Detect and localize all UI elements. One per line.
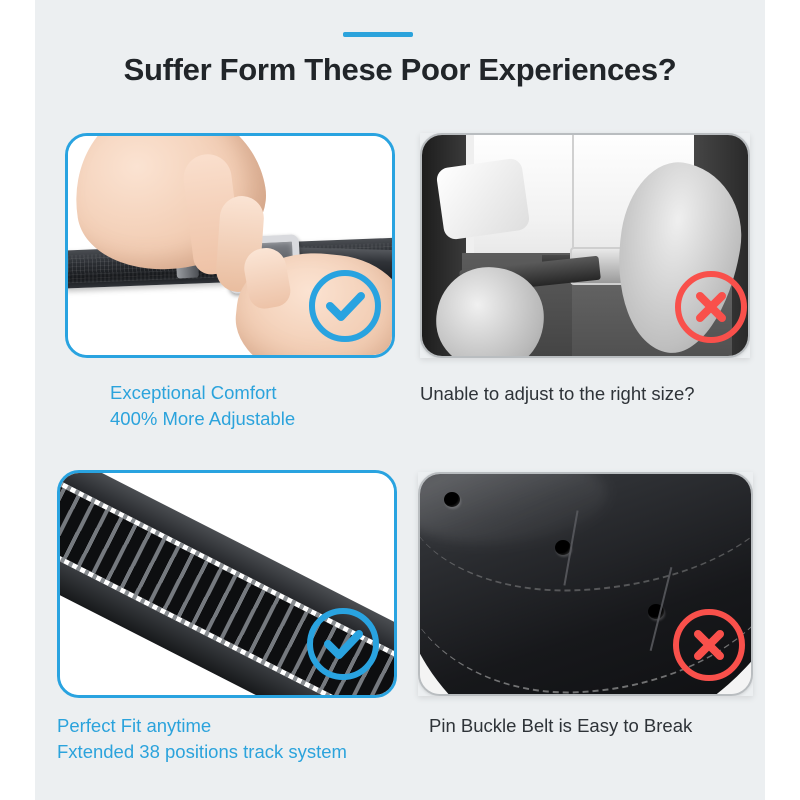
- promo-page: Suffer Form These Poor Experiences? Exce…: [35, 0, 765, 800]
- caption-unable-to-adjust: Unable to adjust to the right size?: [420, 381, 760, 407]
- caption-easy-to-break: Pin Buckle Belt is Easy to Break: [429, 713, 769, 739]
- badge-cross-unable-to-adjust: [675, 271, 747, 343]
- badge-cross-easy-to-break: [673, 609, 745, 681]
- title-accent-bar: [343, 32, 413, 37]
- caption-exceptional-comfort: Exceptional Comfort 400% More Adjustable: [110, 380, 400, 432]
- caption-perfect-fit: Perfect Fit anytime Fxtended 38 position…: [57, 713, 417, 765]
- page-title: Suffer Form These Poor Experiences?: [35, 52, 765, 88]
- badge-check-perfect-fit: [307, 608, 379, 680]
- badge-check-exceptional-comfort: [309, 270, 381, 342]
